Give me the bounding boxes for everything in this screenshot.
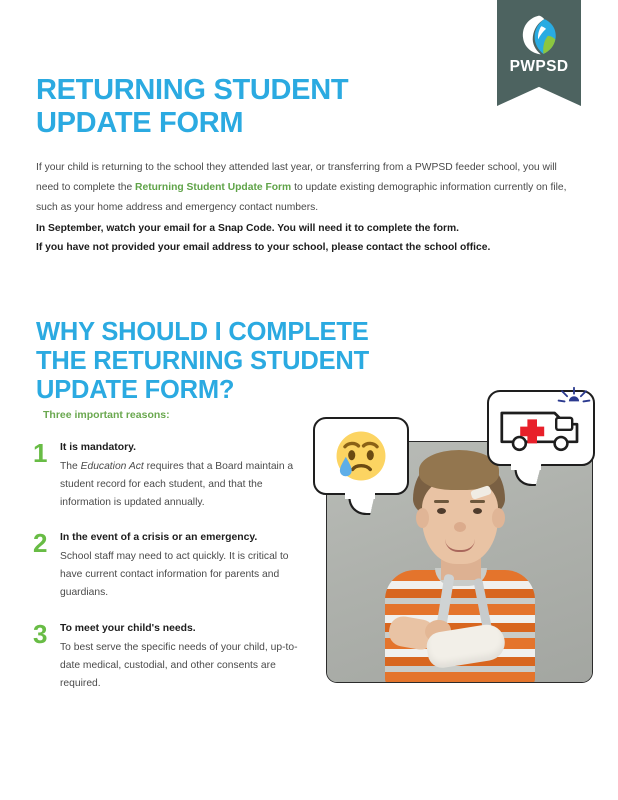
boy-ear-right bbox=[492, 508, 505, 528]
reasons-label: Three important reasons: bbox=[43, 409, 170, 421]
page-root: { "brand": { "ribbon_word": "PWPSD", "ri… bbox=[0, 0, 618, 800]
crying-face-emoji-icon bbox=[334, 429, 388, 483]
ribbon-wordmark: PWPSD bbox=[497, 58, 581, 76]
reason-text: School staff may need to act quickly. It… bbox=[60, 548, 305, 603]
reason-item: 2 In the event of a crisis or an emergen… bbox=[33, 530, 305, 603]
section-title-line2: THE RETURNING STUDENT bbox=[36, 347, 456, 376]
speech-bubble-tail-mask bbox=[345, 489, 375, 499]
pwpsd-ribbon-logo: PWPSD bbox=[497, 0, 581, 106]
page-title: RETURNING STUDENT UPDATE FORM bbox=[36, 74, 456, 140]
reason-text-before: To best serve the specific needs of your… bbox=[60, 642, 298, 690]
reason-title: In the event of a crisis or an emergency… bbox=[60, 530, 305, 546]
snap-code-line2: If you have not provided your email addr… bbox=[36, 239, 578, 258]
reason-text-before: School staff may need to act quickly. It… bbox=[60, 551, 289, 599]
boy-ear-left bbox=[416, 508, 429, 528]
section-title: WHY SHOULD I COMPLETE THE RETURNING STUD… bbox=[36, 318, 456, 404]
reason-text-before: The bbox=[60, 461, 81, 472]
reason-number: 3 bbox=[33, 621, 55, 647]
snap-code-note: In September, watch your email for a Sna… bbox=[36, 220, 578, 257]
reason-title: It is mandatory. bbox=[60, 440, 305, 456]
reason-title: To meet your child's needs. bbox=[60, 621, 305, 637]
reason-text: The Education Act requires that a Board … bbox=[60, 458, 305, 513]
reason-number: 1 bbox=[33, 440, 55, 466]
snap-code-line1: In September, watch your email for a Sna… bbox=[36, 220, 578, 239]
section-title-line3: UPDATE FORM? bbox=[36, 376, 456, 405]
reason-number: 2 bbox=[33, 530, 55, 556]
reason-body: In the event of a crisis or an emergency… bbox=[60, 530, 305, 603]
boy-eye-right bbox=[473, 508, 482, 514]
reason-text-italic: Education Act bbox=[81, 461, 144, 472]
intro-paragraph: If your child is returning to the school… bbox=[36, 158, 578, 217]
page-title-line2: UPDATE FORM bbox=[36, 107, 456, 140]
page-title-line1: RETURNING STUDENT bbox=[36, 74, 348, 106]
reason-item: 3 To meet your child's needs. To best se… bbox=[33, 621, 305, 694]
boy-eye-left bbox=[437, 508, 446, 514]
boy-nose bbox=[454, 522, 466, 532]
boy-eyebrow-left bbox=[434, 500, 449, 503]
boy-eyebrow-right bbox=[470, 500, 485, 503]
reason-text: To best serve the specific needs of your… bbox=[60, 639, 305, 694]
section-title-line1: WHY SHOULD I COMPLETE bbox=[36, 318, 456, 347]
pwpsd-wave-logo-icon bbox=[517, 13, 561, 57]
speech-bubble-sad bbox=[313, 417, 409, 495]
intro-form-name-highlight: Returning Student Update Form bbox=[135, 182, 291, 193]
reason-body: To meet your child's needs. To best serv… bbox=[60, 621, 305, 694]
reason-body: It is mandatory. The Education Act requi… bbox=[60, 440, 305, 513]
reason-item: 1 It is mandatory. The Education Act req… bbox=[33, 440, 305, 513]
speech-bubble-tail-mask bbox=[511, 460, 541, 470]
ambulance-siren-light-icon bbox=[556, 386, 592, 410]
